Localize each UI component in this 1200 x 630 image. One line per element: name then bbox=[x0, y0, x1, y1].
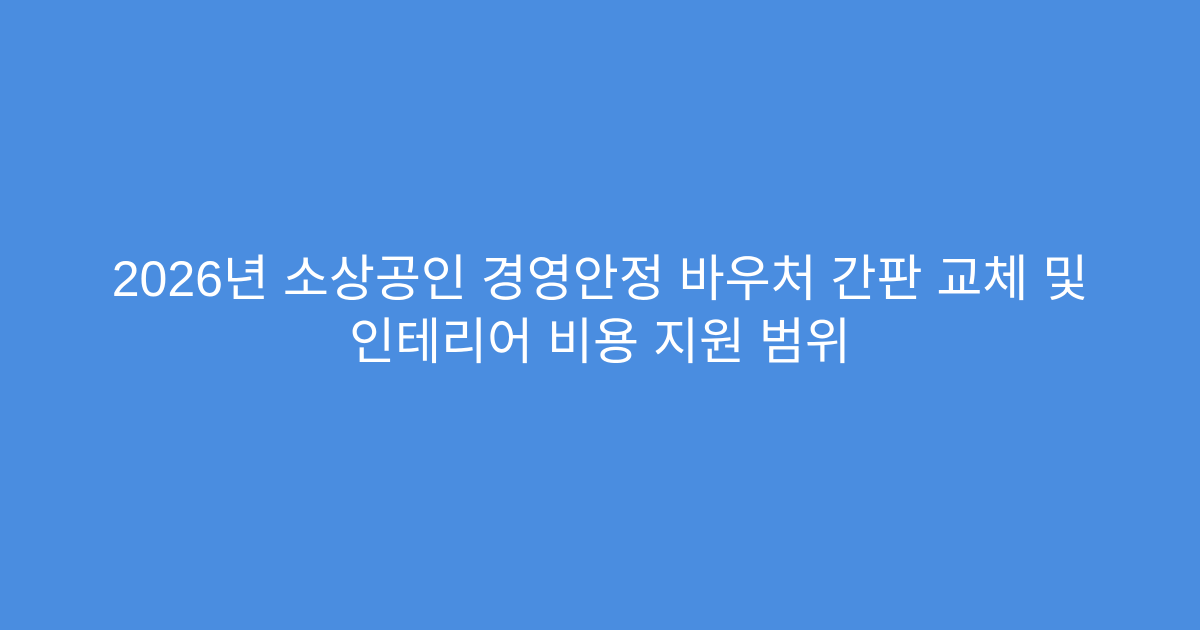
headline-line-1: 2026년 소상공인 경영안정 바우처 간판 교체 및 bbox=[112, 248, 1089, 311]
headline-block: 2026년 소상공인 경영안정 바우처 간판 교체 및 인테리어 비용 지원 범… bbox=[75, 248, 1125, 374]
headline-line-2: 인테리어 비용 지원 범위 bbox=[349, 311, 851, 374]
social-card-canvas: 2026년 소상공인 경영안정 바우처 간판 교체 및 인테리어 비용 지원 범… bbox=[0, 0, 1200, 630]
